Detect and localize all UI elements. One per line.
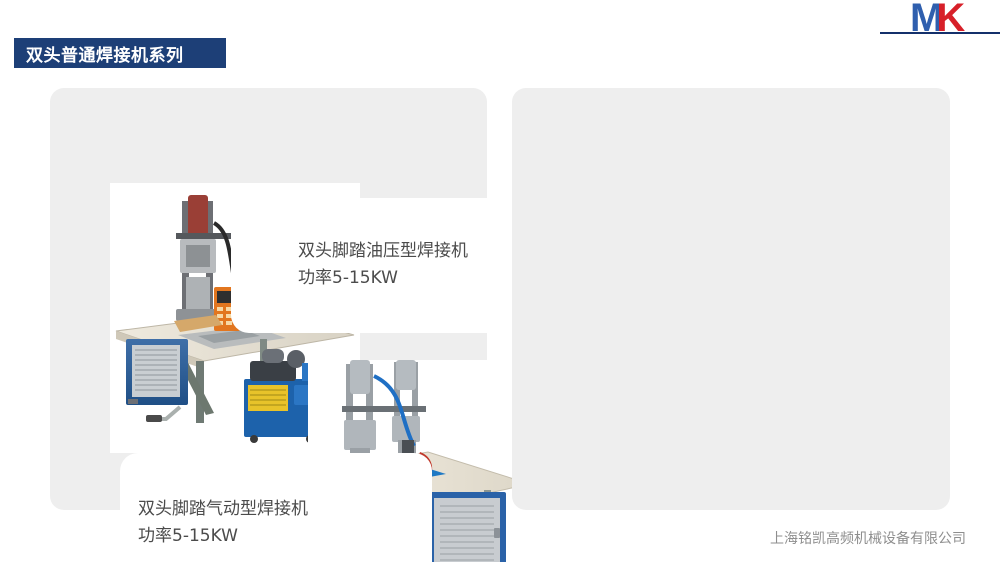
products-panel: 双头脚踏油压型焊接机 功率5-15KW [50, 88, 487, 510]
brand-logo: MK [900, 0, 1000, 42]
product-label-1: 双头脚踏油压型焊接机 功率5-15KW [298, 238, 468, 292]
product-label-2: 双头脚踏气动型焊接机 功率5-15KW [138, 496, 308, 550]
info-panel: 主要用途 此类设备用于服饰商标、压花、PVC\EVA\TPU\包装袋、礼品袋、鞋… [512, 88, 950, 510]
slide-page: MK 双头普通焊接机系列 [0, 0, 1000, 562]
page-title: 双头普通焊接机系列 [26, 41, 184, 66]
logo-letter-k: K [936, 0, 962, 40]
logo-text: MK [910, 0, 962, 38]
company-footer: 上海铭凯高频机械设备有限公司 [770, 528, 966, 548]
page-title-banner: 双头普通焊接机系列 [14, 38, 226, 68]
